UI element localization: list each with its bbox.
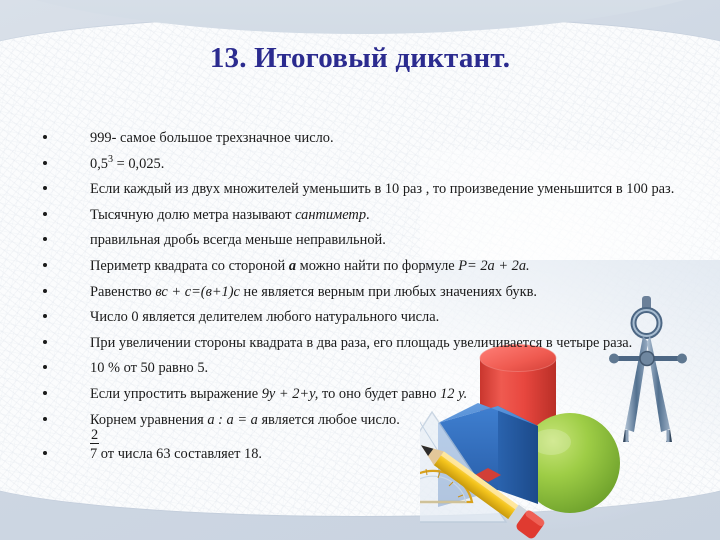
- page-title: 13. Итоговый диктант.: [0, 42, 720, 75]
- list-item: Если упростить выражение 9у + 2+у, то он…: [26, 385, 676, 404]
- bullet-icon: [43, 314, 47, 318]
- bullet-icon: [43, 212, 47, 216]
- list-item-label: Если каждый из двух множителей уменьшить…: [90, 181, 674, 197]
- bullet-icon: [43, 161, 47, 165]
- list-item: 10 % от 50 равно 5.: [26, 359, 676, 378]
- fraction-numerator: 2: [90, 428, 99, 444]
- list-item-label: При увеличении стороны квадрата в два ра…: [90, 335, 632, 351]
- statements-list: 999- самое большое трехзначное число. 0,…: [26, 129, 676, 471]
- bullet-icon: [43, 237, 47, 241]
- list-item: Тысячную долю метра называют сантиметр.: [26, 206, 676, 225]
- list-item-label: правильная дробь всегда меньше неправиль…: [90, 232, 386, 248]
- list-item: Число 0 является делителем любого натура…: [26, 308, 676, 327]
- list-item: Периметр квадрата со стороной а можно на…: [26, 257, 676, 276]
- list-item: Если каждый из двух множителей уменьшить…: [26, 180, 676, 199]
- list-item-label: Если упростить выражение 9у + 2+у, то он…: [90, 386, 467, 402]
- list-item-label: Периметр квадрата со стороной а можно на…: [90, 258, 530, 274]
- list-item: 999- самое большое трехзначное число.: [26, 129, 676, 148]
- bullet-icon: [43, 340, 47, 344]
- bullet-icon: [43, 365, 47, 369]
- list-item: Корнем уравнения а : а = а является любо…: [26, 411, 676, 430]
- list-item-label: 999- самое большое трехзначное число.: [90, 130, 334, 146]
- bullet-icon: [43, 391, 47, 395]
- list-item-label: Равенство вс + с=(в+1)с не является верн…: [90, 284, 537, 300]
- list-item-label: 10 % от 50 равно 5.: [90, 360, 208, 376]
- bullet-icon: [43, 417, 47, 421]
- list-item-label: Тысячную долю метра называют сантиметр.: [90, 207, 370, 223]
- list-item-label: 0,53 = 0,025.: [90, 156, 164, 172]
- slide-canvas: 13. Итоговый диктант. 999- самое большое…: [0, 0, 720, 540]
- list-item: 0,53 = 0,025.: [26, 155, 676, 174]
- list-item: правильная дробь всегда меньше неправиль…: [26, 231, 676, 250]
- bullet-icon: [43, 451, 47, 455]
- list-item: 2 7 от числа 63 составляет 18.: [26, 445, 676, 464]
- list-item: При увеличении стороны квадрата в два ра…: [26, 334, 676, 353]
- bullet-icon: [43, 289, 47, 293]
- list-item-label: Число 0 является делителем любого натура…: [90, 309, 439, 325]
- list-item-label: Корнем уравнения а : а = а является любо…: [90, 412, 400, 428]
- bullet-icon: [43, 186, 47, 190]
- list-item: Равенство вс + с=(в+1)с не является верн…: [26, 283, 676, 302]
- bullet-icon: [43, 263, 47, 267]
- bullet-icon: [43, 135, 47, 139]
- list-item-label: 7 от числа 63 составляет 18.: [90, 446, 262, 462]
